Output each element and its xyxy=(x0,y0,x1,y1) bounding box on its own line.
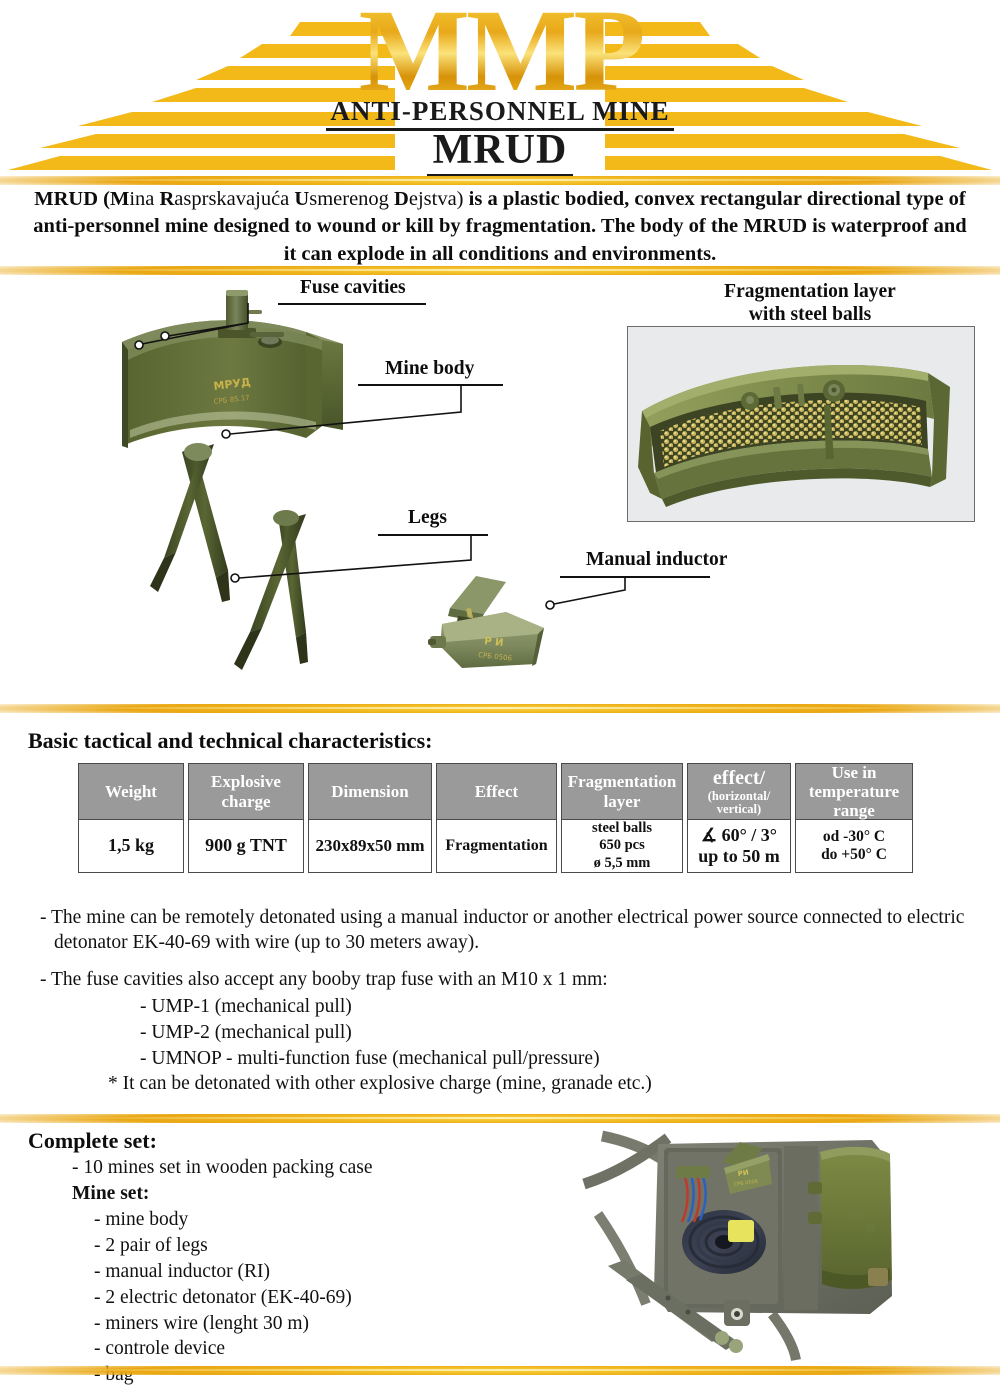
mine-set-item: - mine body xyxy=(72,1207,373,1233)
product-description: MRUD (Mina Rasprskavajuća Usmerenog Dejs… xyxy=(30,186,970,268)
leader-mine-body xyxy=(215,384,515,444)
spec-header-weight: Weight xyxy=(79,764,183,820)
spec-column-explosive-charge: Explosive charge 900 g TNT xyxy=(188,763,304,873)
spec-column-field-effect: Field effect/ (horizontal/vertical) Rang… xyxy=(687,763,791,873)
divider-bottom xyxy=(0,1366,1000,1375)
notes-section: - The mine can be remotely detonated usi… xyxy=(40,905,970,1097)
complete-set-photo: РИ СРБ 0506 xyxy=(572,1118,912,1363)
fuse-item: - UMP-1 (mechanical pull) xyxy=(140,994,970,1020)
field-effect-line-1: Field effect/ xyxy=(690,745,788,790)
callout-label-mine-body: Mine body xyxy=(385,358,474,380)
spec-column-weight: Weight 1,5 kg xyxy=(78,763,184,873)
spec-column-effect: Effect Fragmentation xyxy=(436,763,557,873)
note-star: * It can be detonated with other explosi… xyxy=(40,1071,970,1096)
spec-value-fragmentation-layer: steel balls 650 pcs ø 5,5 mm xyxy=(562,820,682,872)
note-booby-trap: - The fuse cavities also accept any boob… xyxy=(40,967,970,992)
spec-header-field-effect: Field effect/ (horizontal/vertical) Rang… xyxy=(688,764,790,820)
mine-set-item: - miners wire (lenght 30 m) xyxy=(72,1311,373,1337)
temp-max: do +50° C xyxy=(821,846,887,864)
specs-table: Weight 1,5 kg Explosive charge 900 g TNT… xyxy=(78,763,913,873)
spec-value-weight: 1,5 kg xyxy=(79,820,183,872)
mmp-logo: MMP ANTI-PERSONNEL MINE MRUD xyxy=(0,0,1000,175)
specs-section-title: Basic tactical and technical characteris… xyxy=(28,728,432,754)
callout-label-legs: Legs xyxy=(408,507,447,529)
spec-column-dimension: Dimension 230x89x50 mm xyxy=(308,763,432,873)
page-title: MRUD xyxy=(0,126,1000,174)
mine-set-item: - 2 pair of legs xyxy=(72,1233,373,1259)
svg-text:Р И: Р И xyxy=(484,636,504,649)
logo-wordmark: MMP xyxy=(0,0,1000,110)
mine-set-item: - manual inductor (RI) xyxy=(72,1259,373,1285)
spec-value-effect: Fragmentation xyxy=(437,820,556,872)
temp-min: od -30° C xyxy=(823,828,885,846)
divider-top xyxy=(0,176,1000,185)
frag-line-1: steel balls xyxy=(592,820,652,837)
spec-header-fragmentation-layer: Fragmentation layer xyxy=(562,764,682,820)
svg-text:РИ: РИ xyxy=(737,1169,749,1178)
spec-value-dimension: 230x89x50 mm xyxy=(309,820,431,872)
spec-column-temperature: Use in temperature range od -30° C do +5… xyxy=(795,763,913,873)
fuse-item: - UMP-2 (mechanical pull) xyxy=(140,1020,970,1046)
complete-set-title: Complete set: xyxy=(28,1128,157,1154)
spec-header-explosive-charge: Explosive charge xyxy=(189,764,303,820)
frag-line-3: ø 5,5 mm xyxy=(594,855,651,872)
diagram-section: МРУД СРБ 85.17 Fuse cavities Mine body L… xyxy=(0,272,1000,692)
spec-value-explosive-charge: 900 g TNT xyxy=(189,820,303,872)
mine-set-item: - 2 electric detonator (EK-40-69) xyxy=(72,1285,373,1311)
spec-header-temperature: Use in temperature range xyxy=(796,764,912,820)
fuse-item: - UMNOP - multi-function fuse (mechanica… xyxy=(140,1046,970,1072)
fragmentation-photo-caption: Fragmentation layer with steel balls xyxy=(640,280,980,327)
divider-specs xyxy=(0,704,1000,713)
spec-column-fragmentation-layer: Fragmentation layer steel balls 650 pcs … xyxy=(561,763,683,873)
callout-label-manual-inductor: Manual inductor xyxy=(586,549,727,571)
description-acronym: MRUD ( xyxy=(34,188,110,210)
leader-fuse-cavities xyxy=(130,303,310,363)
leader-manual-inductor xyxy=(540,576,730,616)
mine-set-item: - controle device xyxy=(72,1336,373,1362)
spec-value-field-effect: ∡ 60° / 3° up to 50 m xyxy=(688,820,790,872)
mine-set-label: Mine set: xyxy=(72,1181,373,1207)
description-expansion: Mina Rasprskavajuća Usmerenog Dejstva) xyxy=(110,188,464,210)
logo-subtitle: ANTI-PERSONNEL MINE xyxy=(0,96,1000,127)
field-effect-angle: ∡ 60° / 3° xyxy=(701,825,777,846)
frag-line-2: 650 pcs xyxy=(599,837,645,854)
page-header: MMP ANTI-PERSONNEL MINE MRUD xyxy=(0,0,1000,175)
complete-set-list: - 10 mines set in wooden packing case Mi… xyxy=(72,1155,373,1388)
field-effect-line-2: (horizontal/vertical) xyxy=(708,790,771,816)
callout-label-fuse-cavities: Fuse cavities xyxy=(300,277,406,299)
fuse-list: - UMP-1 (mechanical pull) - UMP-2 (mecha… xyxy=(40,994,970,1071)
field-effect-range: up to 50 m xyxy=(698,846,780,867)
spec-header-dimension: Dimension xyxy=(309,764,431,820)
spec-header-effect: Effect xyxy=(437,764,556,820)
note-remote-detonation: - The mine can be remotely detonated usi… xyxy=(40,905,970,956)
fragmentation-layer-photo xyxy=(627,326,975,522)
spec-value-temperature: od -30° C do +50° C xyxy=(796,820,912,872)
complete-set-packing: - 10 mines set in wooden packing case xyxy=(72,1155,373,1181)
